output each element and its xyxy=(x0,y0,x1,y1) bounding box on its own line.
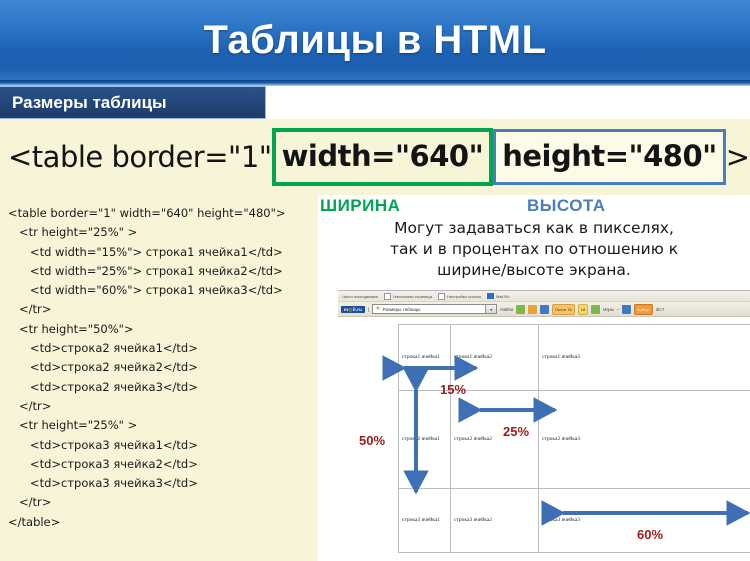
table-cell: строка3 ячейка2 xyxy=(451,489,539,553)
mail-count-label: Почта 76 xyxy=(555,307,572,312)
bookmark-item[interactable]: Начальная страница xyxy=(384,293,432,300)
code-banner: <table border="1" width="640" height="48… xyxy=(8,134,750,180)
page-title: Таблицы в HTML xyxy=(203,18,546,63)
code-listing-panel: <table border="1" width="640" height="48… xyxy=(0,195,318,561)
mail-icon xyxy=(487,293,494,299)
banner-code-suffix: > xyxy=(726,140,750,174)
table-cell-text: строка3 ячейка2 xyxy=(454,517,492,524)
code-line: <tr height="50%"> xyxy=(8,320,318,339)
code-line: </tr> xyxy=(8,300,318,319)
bookmark-label: Начальная страница xyxy=(393,294,432,299)
toolbar-dash: – xyxy=(617,307,620,312)
notifications-count: 18 xyxy=(581,307,585,312)
banner-height-attribute: height="480" xyxy=(493,129,726,185)
games-button[interactable]: Игры xyxy=(603,307,614,312)
description-text: Могут задаваться как в пикселях, так и в… xyxy=(318,218,750,281)
mail-count-button[interactable]: Почта 76 xyxy=(552,304,575,315)
code-line: <tr height="25%" > xyxy=(8,223,318,242)
slide: Таблицы в HTML Размеры таблицы <table bo… xyxy=(0,0,750,561)
label-col2-width: 25% xyxy=(503,424,529,439)
label-col3-width: 60% xyxy=(637,527,663,542)
star-icon: ★ xyxy=(375,306,380,312)
code-line: </table> xyxy=(8,513,318,532)
table-cell: строка1 ячейка3 xyxy=(539,325,750,391)
bookmark-item[interactable]: Настройка ссылок xyxy=(438,293,481,300)
code-line: <td width="15%"> строка1 ячейка1</td> xyxy=(8,243,318,262)
code-line: <td>строка3 ячейка1</td> xyxy=(8,436,318,455)
translate-icon[interactable] xyxy=(516,305,525,314)
width-callout-label: ШИРИНА xyxy=(320,196,400,216)
slide-title-bar: Таблицы в HTML xyxy=(0,0,750,80)
find-button[interactable]: Найти xyxy=(500,307,513,312)
code-line: <td>строка3 ячейка2</td> xyxy=(8,455,318,474)
code-line: <tr height="25%" > xyxy=(8,416,318,435)
table-cell: строка2 ячейка2 xyxy=(451,391,539,489)
table-cell-text: строка1 ячейка3 xyxy=(542,354,580,361)
bookmark-label: Часто посещаемые xyxy=(342,294,378,299)
table-cell-text: строка2 ячейка2 xyxy=(454,436,492,443)
code-line: <td>строка3 ячейка3</td> xyxy=(8,474,318,493)
notifications-button[interactable]: 18 xyxy=(578,304,588,315)
highlighter-icon[interactable] xyxy=(528,305,537,314)
rendered-html-table: строка1 ячейка1 строка1 ячейка2 строка1 … xyxy=(398,324,750,553)
description-line-2: так и в процентах по отношению к xyxy=(318,239,750,260)
chevron-down-icon[interactable]: ▾ xyxy=(485,305,496,313)
bookmarks-bar: Часто посещаемые Начальная страница Наст… xyxy=(338,291,750,302)
toolbar-divider: | xyxy=(368,307,369,312)
balance-button[interactable]: 8,00 р. xyxy=(634,304,652,315)
subtitle-label: Размеры таблицы xyxy=(0,93,167,113)
rate-label: 30.7 xyxy=(656,307,665,312)
table-cell: строка3 ячейка1 xyxy=(399,489,451,553)
code-line: <td>строка2 ячейка2</td> xyxy=(8,358,318,377)
description-line-1: Могут задаваться как в пикселях, xyxy=(318,218,750,239)
table-cell-text: строка2 ячейка3 xyxy=(542,436,580,443)
code-line: <td>строка2 ячейка3</td> xyxy=(8,378,318,397)
code-line: <td width="60%"> строка1 ячейка3</td> xyxy=(8,281,318,300)
balance-label: 8,00 р. xyxy=(637,307,649,312)
table-cell-text: строка3 ячейка3 xyxy=(542,517,580,524)
bookmark-item[interactable]: Часто посещаемые xyxy=(342,294,378,299)
mailru-logo[interactable]: m@il.ru xyxy=(341,306,365,313)
label-row2-height: 50% xyxy=(359,433,385,448)
table-cell: строка3 ячейка3 xyxy=(539,489,750,553)
code-line: <td>строка2 ячейка1</td> xyxy=(8,339,318,358)
bookmark-label: Mail.Ru xyxy=(496,294,510,299)
bookmark-icon xyxy=(384,293,391,300)
code-line: </tr> xyxy=(8,493,318,512)
code-line: <td width="25%"> строка1 ячейка2</td> xyxy=(8,262,318,281)
height-callout-label: ВЫСОТА xyxy=(527,196,606,216)
search-input[interactable]: ★ Размеры таблицы ▾ xyxy=(372,304,497,314)
screenshot-icon[interactable] xyxy=(540,305,549,314)
subtitle-tab: Размеры таблицы xyxy=(0,86,266,119)
banner-code-prefix: <table border="1" xyxy=(8,140,272,174)
upload-icon[interactable] xyxy=(591,305,600,314)
description-line-3: ширине/высоте экрана. xyxy=(318,260,750,281)
weather-icon[interactable] xyxy=(622,305,631,314)
table-cell-text: строка1 ячейка2 xyxy=(454,354,492,361)
search-input-value: Размеры таблицы xyxy=(383,307,421,312)
table-row: строка3 ячейка1 строка3 ячейка2 строка3 … xyxy=(399,489,750,553)
table-row: строка2 ячейка1 строка2 ячейка2 строка2 … xyxy=(399,391,750,489)
table-cell-text: строка2 ячейка1 xyxy=(402,436,440,443)
code-line: </tr> xyxy=(8,397,318,416)
browser-toolbar: m@il.ru | ★ Размеры таблицы ▾ Найти Почт… xyxy=(338,302,750,317)
table-cell-text: строка1 ячейка1 xyxy=(402,354,440,361)
label-col1-width: 15% xyxy=(440,382,466,397)
bookmark-item[interactable]: Mail.Ru xyxy=(487,293,510,299)
bookmark-label: Настройка ссылок xyxy=(447,294,481,299)
browser-screenshot: Часто посещаемые Начальная страница Наст… xyxy=(338,290,750,561)
bookmark-icon xyxy=(438,293,445,300)
banner-width-attribute: width="640" xyxy=(272,128,494,186)
table-cell-text: строка3 ячейка1 xyxy=(402,517,440,524)
table-cell: строка2 ячейка1 xyxy=(399,391,451,489)
table-cell: строка2 ячейка3 xyxy=(539,391,750,489)
code-line: <table border="1" width="640" height="48… xyxy=(8,204,318,223)
